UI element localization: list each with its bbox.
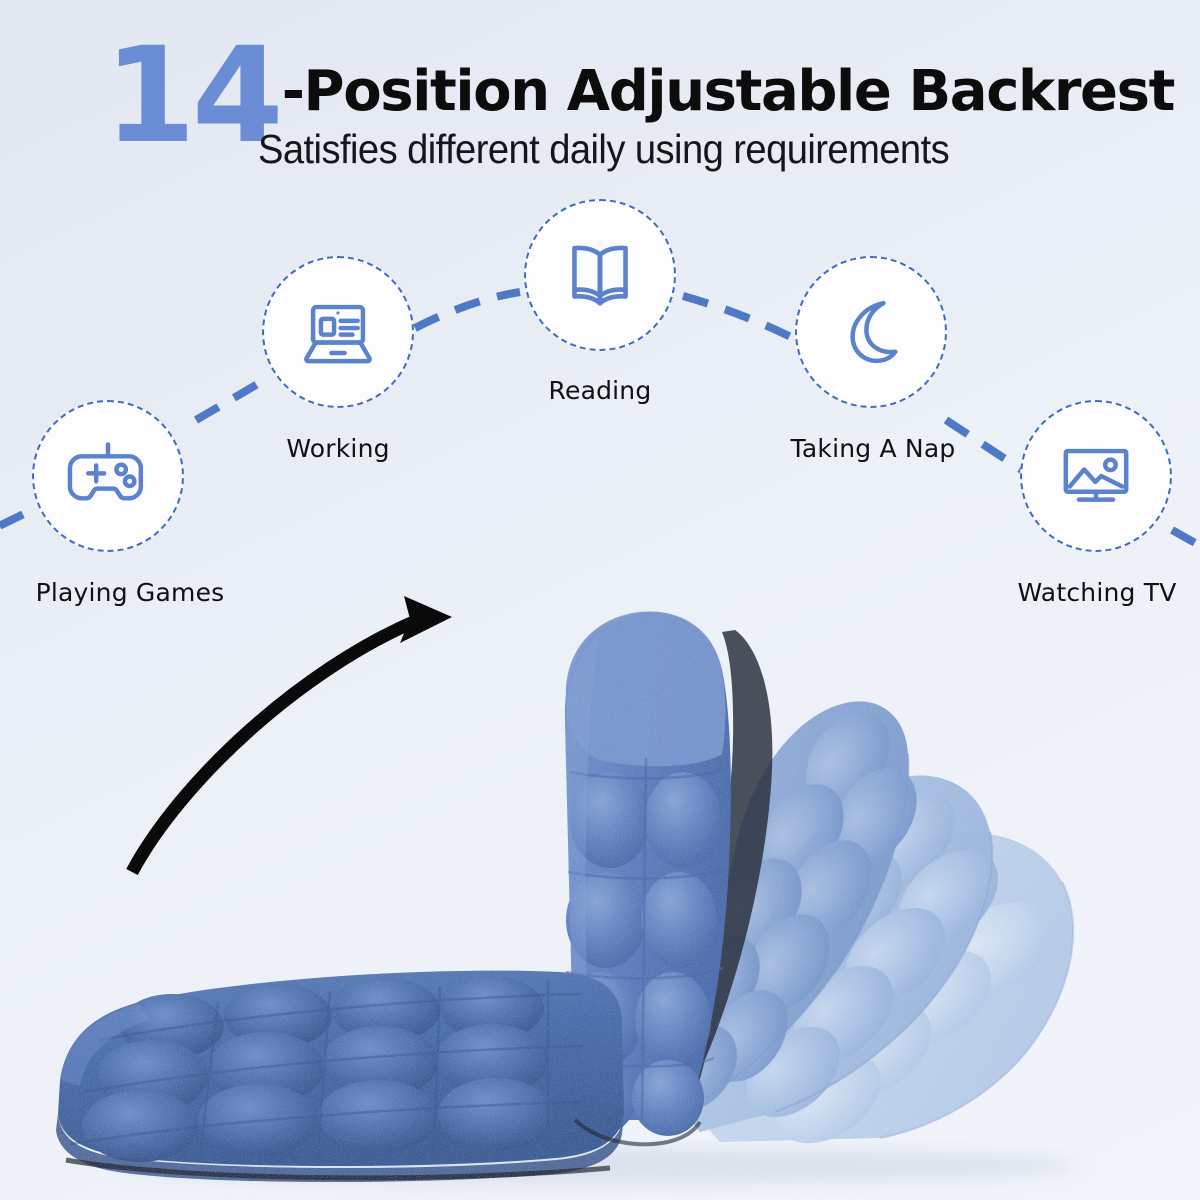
monitor-picture-icon — [1054, 434, 1138, 518]
caption-reading: Reading — [480, 376, 720, 405]
page-title: -Position Adjustable Backrest — [282, 64, 1174, 120]
gamepad-icon — [66, 434, 150, 518]
caption-taking-a-nap: Taking A Nap — [748, 434, 998, 463]
bubble-working[interactable] — [262, 256, 414, 408]
seat-base — [56, 971, 624, 1182]
header: 14 -Position Adjustable Backrest Satisfi… — [0, 0, 1200, 190]
caption-working: Working — [218, 434, 458, 463]
crescent-moon-icon — [829, 290, 913, 374]
dash-segment-2 — [415, 292, 520, 328]
dash-segment-1 — [196, 378, 268, 420]
laptop-icon — [296, 290, 380, 374]
page-subtitle: Satisfies different daily using requirem… — [258, 126, 949, 173]
dash-segment-3 — [683, 296, 793, 338]
recline-arrow — [132, 596, 452, 872]
open-book-icon — [557, 232, 643, 318]
product-image — [0, 520, 1200, 1200]
floor-chair-illustration — [0, 520, 1200, 1200]
bubble-reading[interactable] — [524, 199, 676, 351]
bubble-taking-a-nap[interactable] — [795, 256, 947, 408]
position-count: 14 — [104, 38, 280, 154]
marketing-infographic: 14 -Position Adjustable Backrest Satisfi… — [0, 0, 1200, 1200]
